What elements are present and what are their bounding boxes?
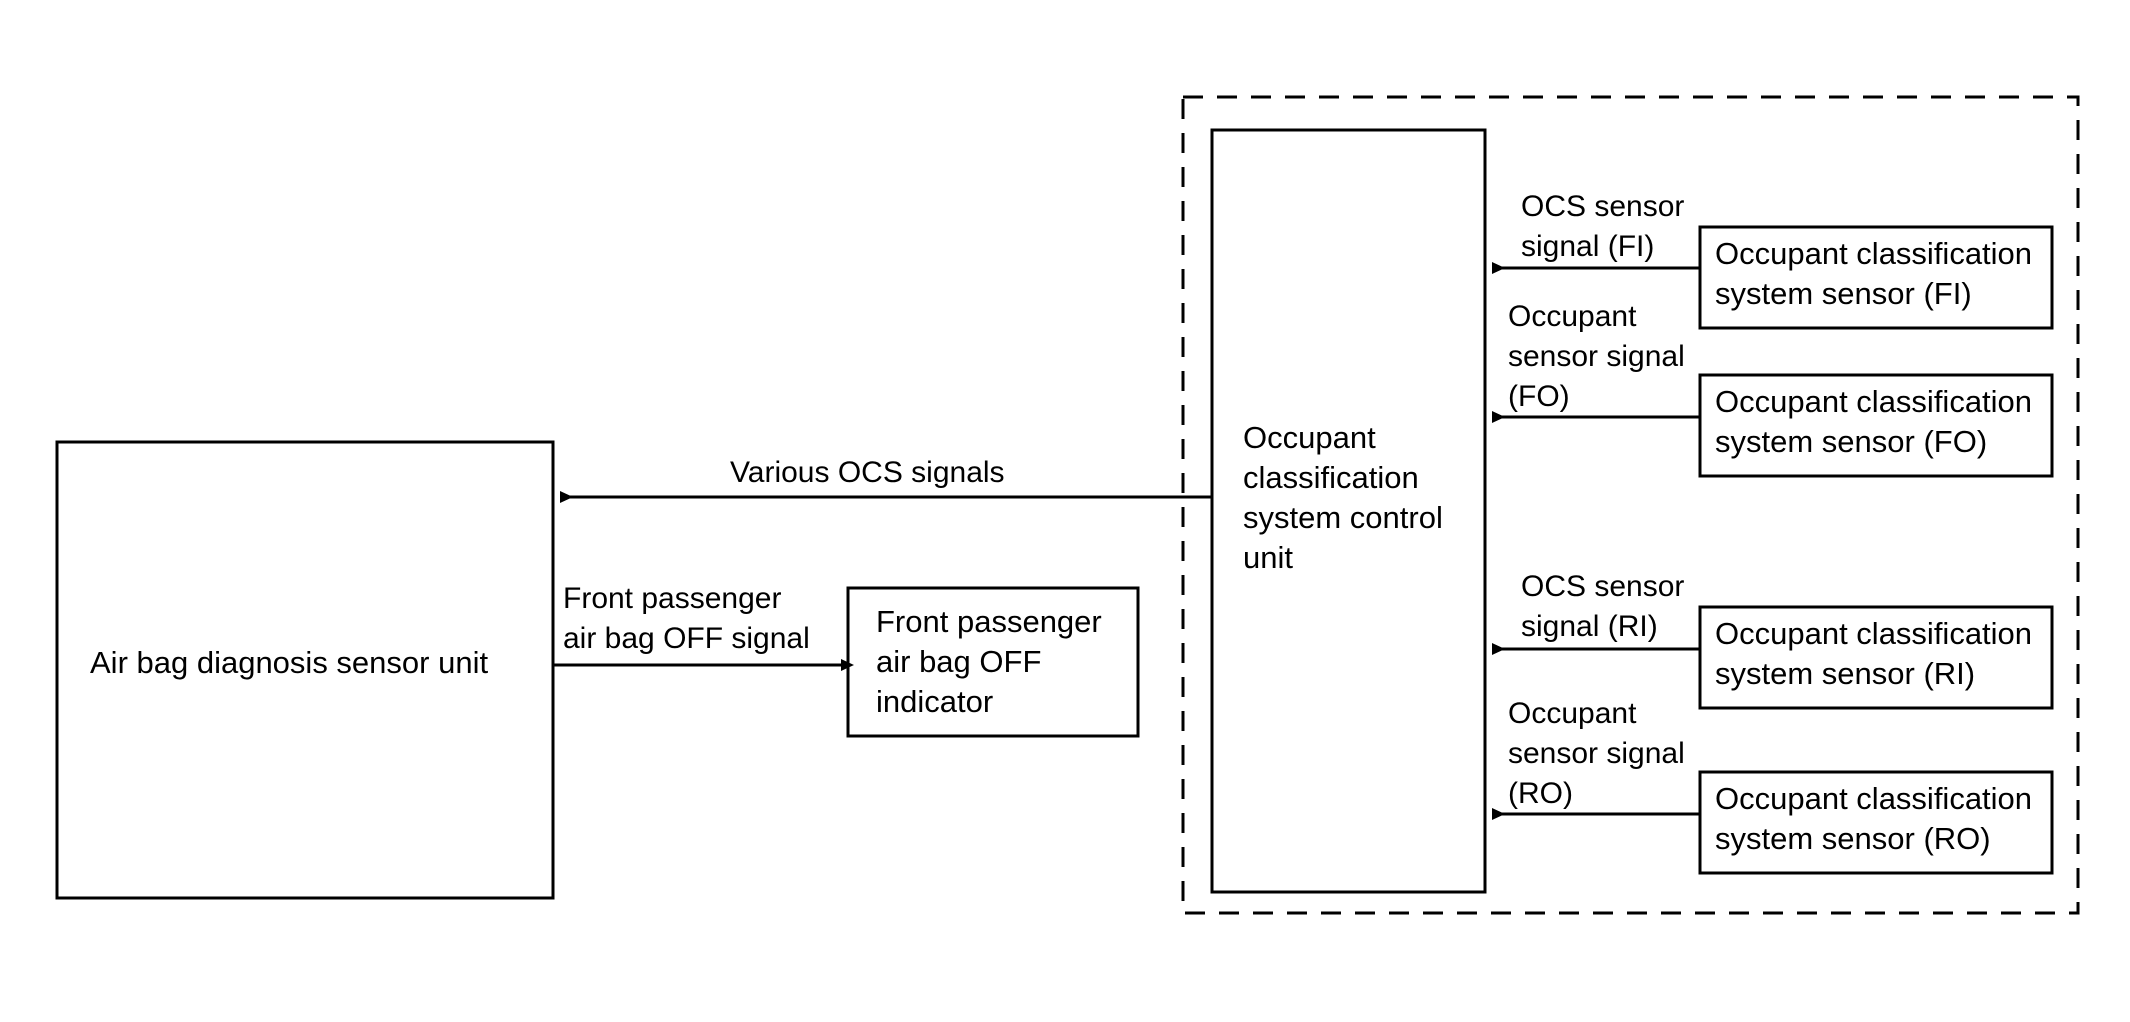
ocs-sensor-signal-ri-label-line-2: signal (RI) (1521, 610, 1658, 643)
ocs-sensor-signal-fi-label-line-1: OCS sensor (1521, 190, 1684, 223)
occupant-sensor-signal-ro-label-line-3: (RO) (1508, 777, 1573, 810)
indicator-label-line-3: indicator (876, 684, 993, 719)
air-bag-diagnosis-sensor-unit-label: Air bag diagnosis sensor unit (90, 645, 488, 680)
sensor-fo-label-line-1: Occupant classification (1715, 384, 2032, 419)
sensor-fo-label-line-2: system sensor (FO) (1715, 424, 1987, 459)
sensor-fi-label-line-1: Occupant classification (1715, 236, 2032, 271)
control-unit-label-line-1: Occupant (1243, 420, 1376, 455)
ocs-sensor-signal-ri-label-line-1: OCS sensor (1521, 570, 1684, 603)
control-unit-label-line-4: unit (1243, 540, 1293, 575)
indicator-label-line-1: Front passenger (876, 604, 1102, 639)
air-bag-off-signal-label-line-2: air bag OFF signal (563, 622, 810, 655)
sensor-ri-label-line-1: Occupant classification (1715, 616, 2032, 651)
sensor-ro-label-line-2: system sensor (RO) (1715, 821, 1991, 856)
indicator-label-line-2: air bag OFF (876, 644, 1041, 679)
diagram-canvas: Air bag diagnosis sensor unit Front pass… (0, 0, 2130, 1022)
control-unit-label-line-2: classification (1243, 460, 1419, 495)
occupant-sensor-signal-fo-label-line-2: sensor signal (1508, 340, 1685, 373)
various-ocs-signals-label: Various OCS signals (730, 456, 1005, 489)
sensor-ro-label-line-1: Occupant classification (1715, 781, 2032, 816)
sensor-ri-label-line-2: system sensor (RI) (1715, 656, 1975, 691)
block-diagram-svg: Air bag diagnosis sensor unit Front pass… (0, 0, 2130, 1022)
ocs-sensor-signal-fi-label-line-2: signal (FI) (1521, 230, 1654, 263)
air-bag-off-signal-label-line-1: Front passenger (563, 582, 781, 615)
occupant-sensor-signal-fo-label-line-3: (FO) (1508, 380, 1570, 413)
occupant-sensor-signal-ro-label-line-2: sensor signal (1508, 737, 1685, 770)
control-unit-label-line-3: system control (1243, 500, 1443, 535)
occupant-sensor-signal-ro-label-line-1: Occupant (1508, 697, 1637, 730)
occupant-sensor-signal-fo-label-line-1: Occupant (1508, 300, 1637, 333)
sensor-fi-label-line-2: system sensor (FI) (1715, 276, 1972, 311)
